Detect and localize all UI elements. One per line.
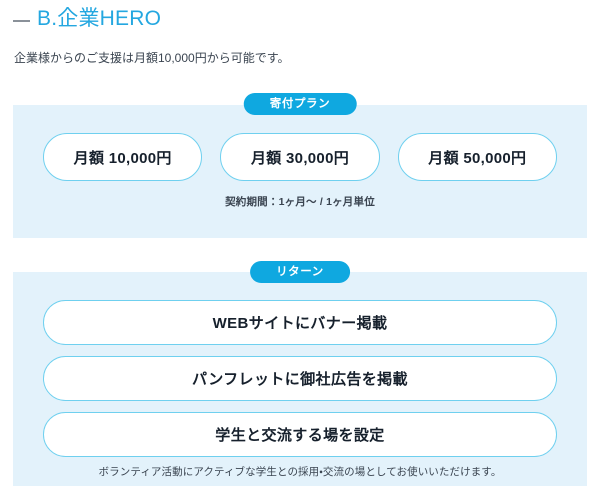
plan-option-1[interactable]: 月額 10,000円 — [43, 133, 202, 181]
section-heading: B.企業HERO — [13, 6, 161, 32]
return-item-3[interactable]: 学生と交流する場を設定 — [43, 412, 557, 457]
heading-dash-icon — [13, 20, 30, 22]
return-item-2[interactable]: パンフレットに御社広告を掲載 — [43, 356, 557, 401]
plan-option-2[interactable]: 月額 30,000円 — [220, 133, 379, 181]
plan-option-3[interactable]: 月額 50,000円 — [398, 133, 557, 181]
return-item-1[interactable]: WEBサイトにバナー掲載 — [43, 300, 557, 345]
intro-text: 企業様からのご支援は月額10,000円から可能です。 — [14, 49, 290, 67]
return-footer-note: ボランティア活動にアクティブな学生との採用・交流の場としてお使いいただけます。 — [0, 464, 600, 479]
donation-plan-badge: 寄付プラン — [244, 93, 357, 115]
donation-plan-options: 月額 10,000円 月額 30,000円 月額 50,000円 — [13, 133, 587, 181]
return-badge: リターン — [250, 261, 350, 283]
page-title: B.企業HERO — [37, 6, 161, 32]
contract-period-note: 契約期間：1ヶ月〜 / 1ヶ月単位 — [0, 194, 600, 209]
return-items-list: WEBサイトにバナー掲載 パンフレットに御社広告を掲載 学生と交流する場を設定 — [13, 300, 587, 457]
